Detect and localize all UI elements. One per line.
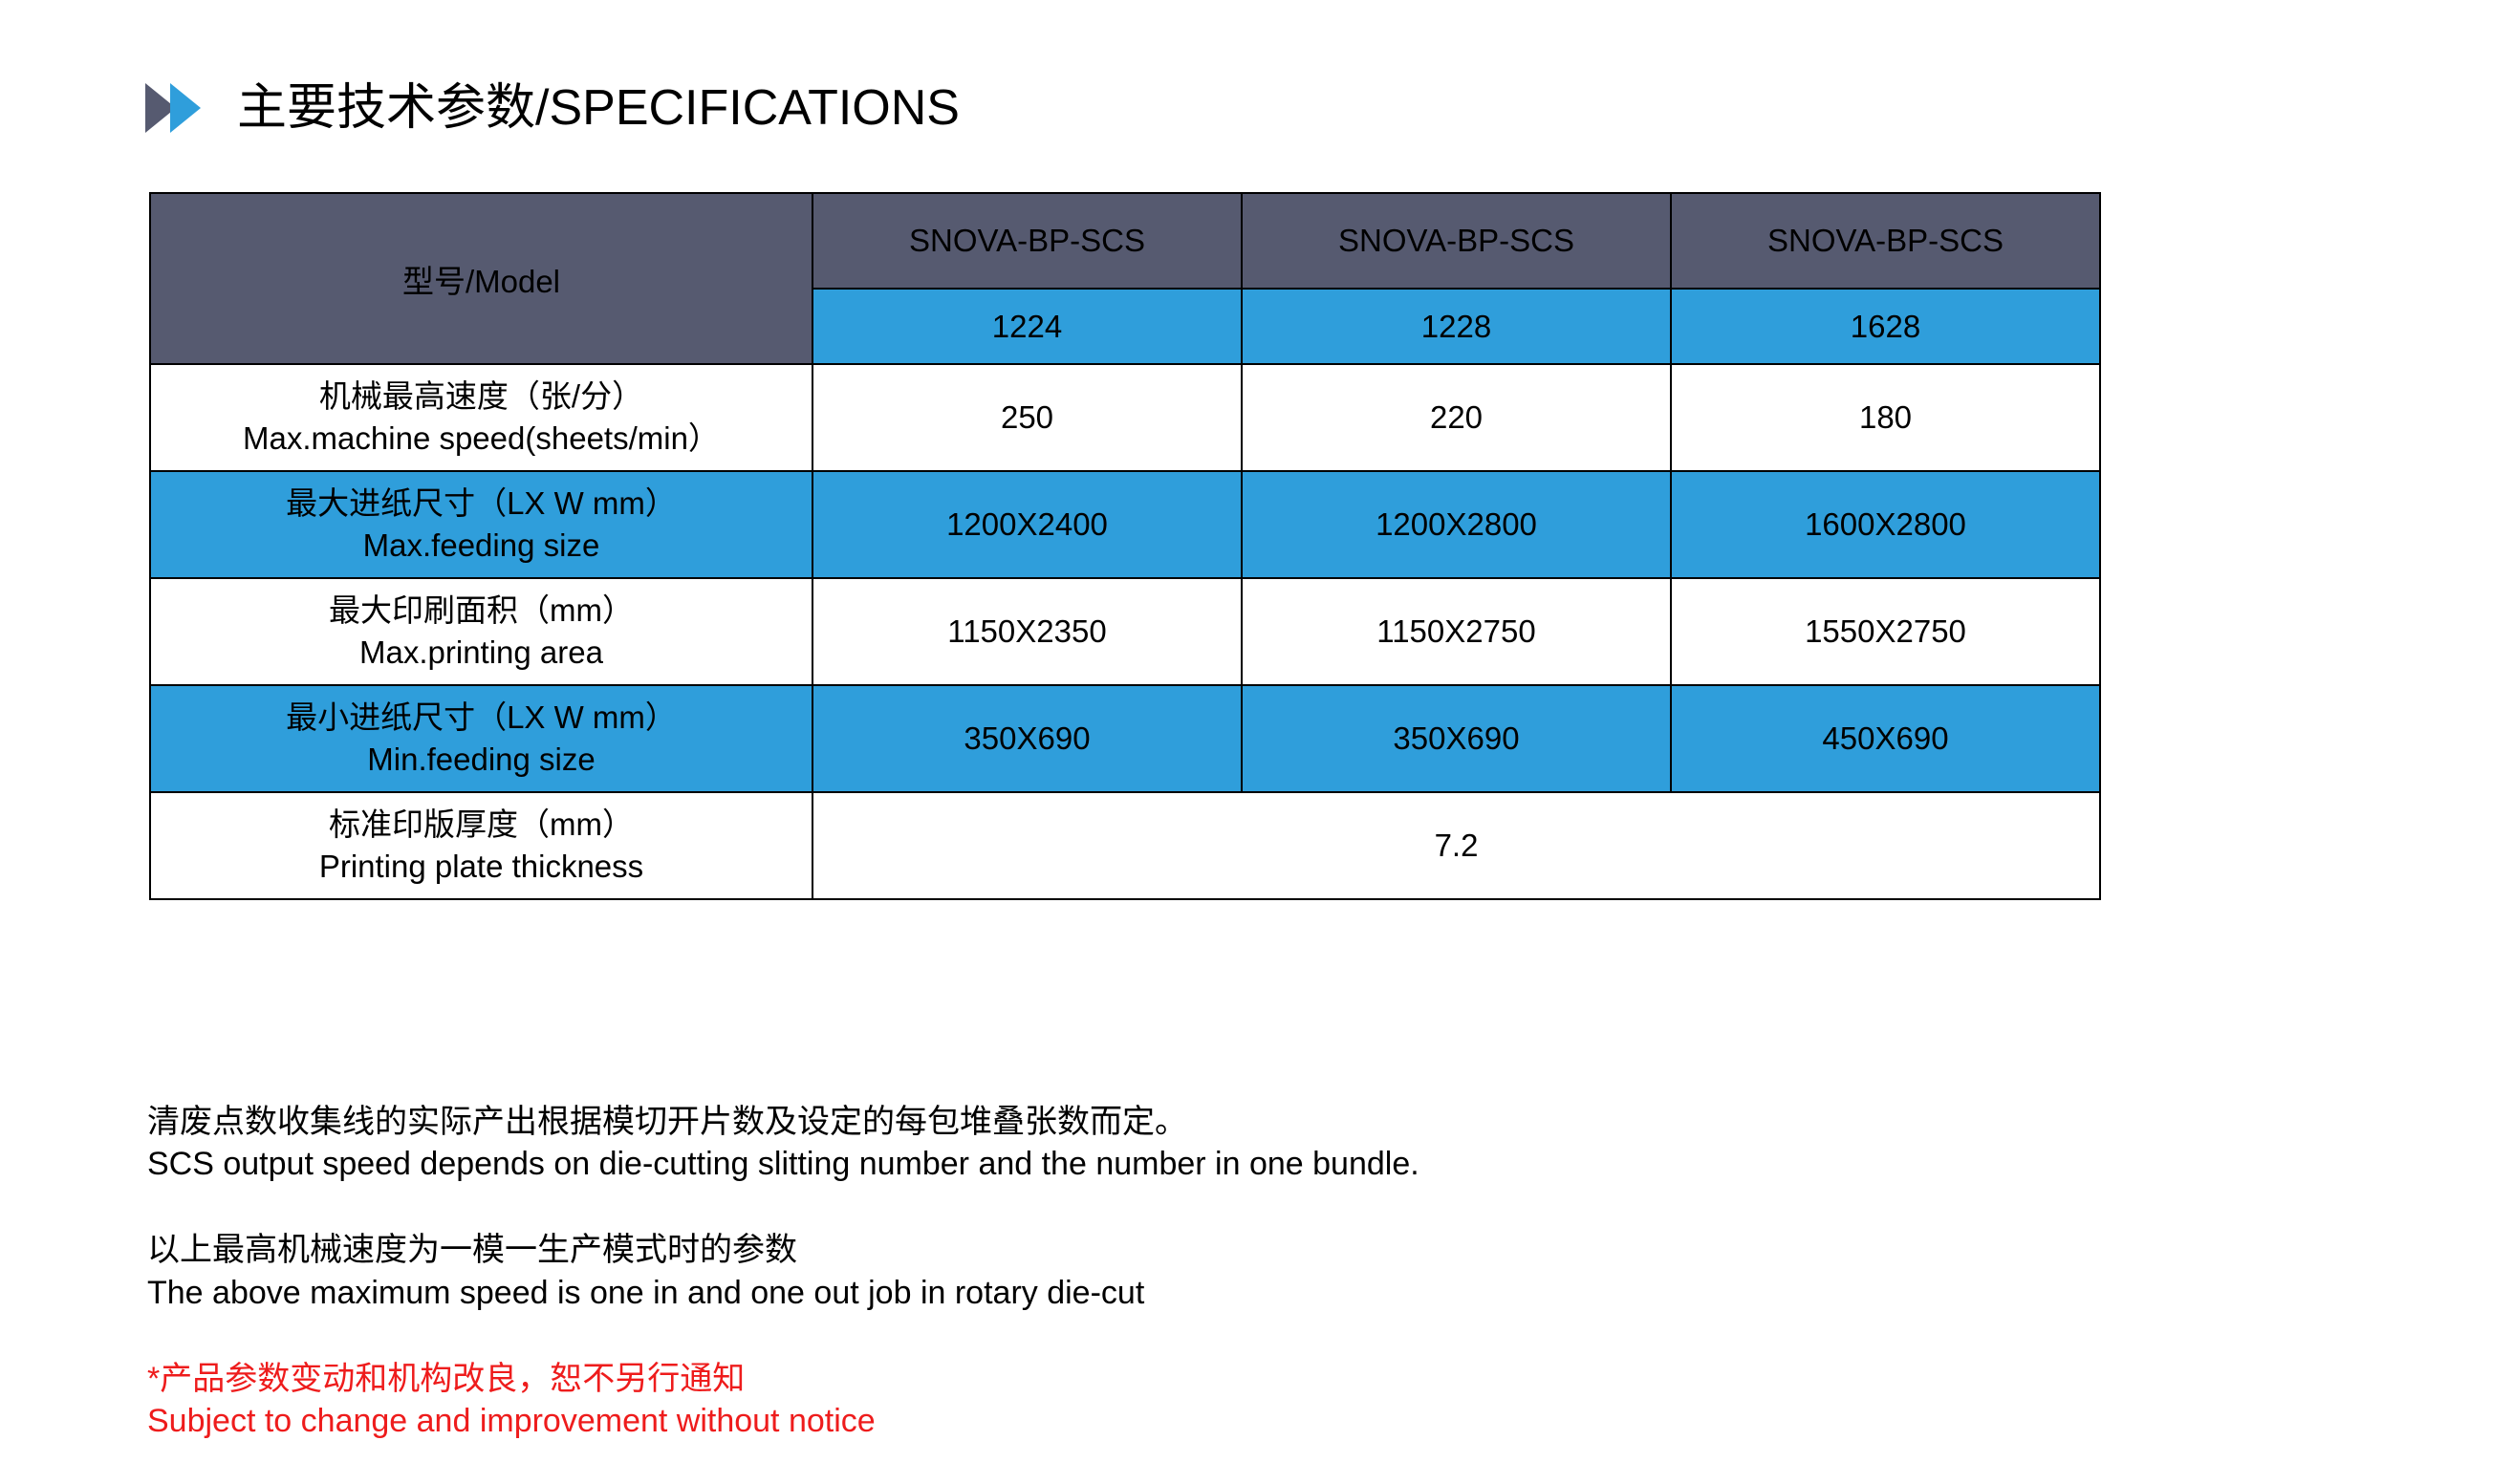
note-line-cn: 以上最高机械速度为一模一生产模式时的参数 xyxy=(147,1229,2250,1271)
note-block-max-speed: 以上最高机械速度为一模一生产模式时的参数 The above maximum s… xyxy=(147,1229,2250,1313)
table-header-row-name: 型号/Model SNOVA-BP-SCS SNOVA-BP-SCS SNOVA… xyxy=(150,193,2100,289)
row-label-en: Max.machine speed(sheets/min） xyxy=(151,418,812,460)
row-value-2: 220 xyxy=(1242,364,1671,471)
row-value-1: 350X690 xyxy=(812,685,1242,792)
row-label-en: Max.feeding size xyxy=(151,525,812,567)
row-label-cn: 最小进纸尺寸（LX W mm） xyxy=(151,697,812,739)
column-number-2: 1228 xyxy=(1242,289,1671,364)
table-row: 最大印刷面积（mm） Max.printing area 1150X2350 1… xyxy=(150,578,2100,685)
disclaimer-line-cn: *产品参数变动和机构改良，恕不另行通知 xyxy=(147,1358,2250,1400)
row-value-1: 250 xyxy=(812,364,1242,471)
model-header-cell: 型号/Model xyxy=(150,193,812,364)
row-value-2: 1200X2800 xyxy=(1242,471,1671,578)
specifications-page: 主要技术参数/SPECIFICATIONS 型号/Model SNOVA-BP-… xyxy=(0,0,2513,1459)
row-label: 最大印刷面积（mm） Max.printing area xyxy=(150,578,812,685)
row-label-cn: 机械最高速度（张/分） xyxy=(151,376,812,418)
column-name-3: SNOVA-BP-SCS xyxy=(1671,193,2100,289)
row-label-cn: 标准印版厚度（mm） xyxy=(151,804,812,846)
arrow-pair xyxy=(145,83,201,133)
row-value-3: 1600X2800 xyxy=(1671,471,2100,578)
page-title: 主要技术参数/SPECIFICATIONS xyxy=(237,83,960,133)
table-row: 最大进纸尺寸（LX W mm） Max.feeding size 1200X24… xyxy=(150,471,2100,578)
row-value-1: 1150X2350 xyxy=(812,578,1242,685)
row-label: 最小进纸尺寸（LX W mm） Min.feeding size xyxy=(150,685,812,792)
row-value-1: 1200X2400 xyxy=(812,471,1242,578)
page-title-row: 主要技术参数/SPECIFICATIONS xyxy=(145,75,960,141)
table-row: 最小进纸尺寸（LX W mm） Min.feeding size 350X690… xyxy=(150,685,2100,792)
specifications-table: 型号/Model SNOVA-BP-SCS SNOVA-BP-SCS SNOVA… xyxy=(149,192,2101,900)
column-name-1: SNOVA-BP-SCS xyxy=(812,193,1242,289)
column-number-3: 1628 xyxy=(1671,289,2100,364)
triangle-right-blue-icon xyxy=(170,83,201,133)
notes-section: 清废点数收集线的实际产出根据模切开片数及设定的每包堆叠张数而定。 SCS out… xyxy=(147,1101,2250,1484)
row-label-cn: 最大进纸尺寸（LX W mm） xyxy=(151,483,812,525)
column-number-1: 1224 xyxy=(812,289,1242,364)
row-label: 最大进纸尺寸（LX W mm） Max.feeding size xyxy=(150,471,812,578)
row-value-3: 180 xyxy=(1671,364,2100,471)
note-line-en: SCS output speed depends on die-cutting … xyxy=(147,1143,2250,1185)
table-row: 机械最高速度（张/分） Max.machine speed(sheets/min… xyxy=(150,364,2100,471)
row-label-en: Printing plate thickness xyxy=(151,846,812,888)
row-value-3: 1550X2750 xyxy=(1671,578,2100,685)
disclaimer-line-en: Subject to change and improvement withou… xyxy=(147,1400,2250,1442)
row-value-3: 450X690 xyxy=(1671,685,2100,792)
row-label-en: Max.printing area xyxy=(151,632,812,674)
row-label: 标准印版厚度（mm） Printing plate thickness xyxy=(150,792,812,899)
row-label-cn: 最大印刷面积（mm） xyxy=(151,590,812,632)
column-name-2: SNOVA-BP-SCS xyxy=(1242,193,1671,289)
row-value-merged: 7.2 xyxy=(812,792,2100,899)
note-block-output-speed: 清废点数收集线的实际产出根据模切开片数及设定的每包堆叠张数而定。 SCS out… xyxy=(147,1101,2250,1185)
row-value-2: 350X690 xyxy=(1242,685,1671,792)
table-row: 标准印版厚度（mm） Printing plate thickness 7.2 xyxy=(150,792,2100,899)
note-line-cn: 清废点数收集线的实际产出根据模切开片数及设定的每包堆叠张数而定。 xyxy=(147,1101,2250,1143)
note-line-en: The above maximum speed is one in and on… xyxy=(147,1272,2250,1314)
row-label: 机械最高速度（张/分） Max.machine speed(sheets/min… xyxy=(150,364,812,471)
note-block-disclaimer: *产品参数变动和机构改良，恕不另行通知 Subject to change an… xyxy=(147,1358,2250,1442)
row-value-2: 1150X2750 xyxy=(1242,578,1671,685)
row-label-en: Min.feeding size xyxy=(151,739,812,781)
